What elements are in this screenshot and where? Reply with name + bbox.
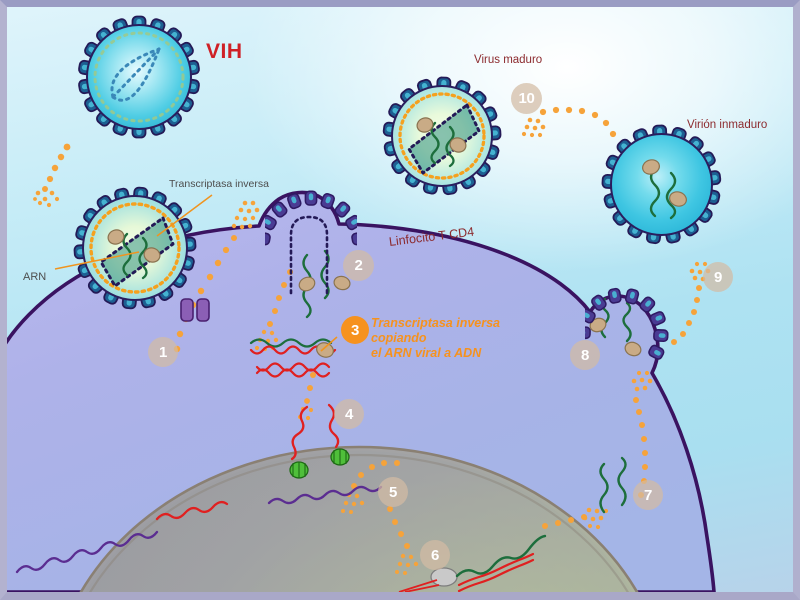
step-marker-8: 8 (570, 340, 600, 370)
figure-frame: VIH Transcriptasa inversa ARN Linfocito … (0, 0, 800, 600)
step-marker-label: 6 (431, 547, 439, 564)
label-transcriptasa-inversa: Transcriptasa inversa (169, 178, 269, 190)
caption-step-3-line1: Transcriptasa inversa copiando (371, 316, 500, 345)
step3-leader (321, 337, 337, 351)
step-marker-3: 3 (341, 316, 369, 344)
step-marker-label: 5 (389, 484, 397, 501)
step-marker-2: 2 (343, 250, 374, 281)
step-marker-7: 7 (633, 480, 663, 510)
step-marker-label: 10 (518, 90, 534, 107)
arn-leader (55, 252, 139, 269)
caption-step-3-line2: el ARN viral a ADN (371, 346, 481, 360)
step-marker-label: 7 (644, 487, 652, 504)
label-virion-inmaduro: Virión inmaduro (687, 119, 767, 131)
step-marker-label: 2 (354, 257, 362, 274)
step-marker-label: 4 (345, 406, 353, 423)
step-marker-10: 10 (511, 83, 542, 114)
label-virus-maduro: Virus maduro (474, 54, 542, 66)
step-marker-label: 1 (159, 344, 167, 361)
step-marker-6: 6 (420, 540, 450, 570)
label-arn: ARN (23, 271, 46, 283)
step-marker-1: 1 (148, 337, 178, 367)
step-marker-4: 4 (334, 399, 364, 429)
label-vih: VIH (206, 40, 243, 64)
caption-step-3: Transcriptasa inversa copiando el ARN vi… (371, 316, 551, 361)
step-marker-label: 9 (714, 269, 722, 286)
transcriptasa-inversa-leader (157, 195, 212, 236)
step-marker-label: 3 (351, 322, 359, 339)
step-marker-5: 5 (378, 477, 408, 507)
step-marker-label: 8 (581, 347, 589, 364)
diagram-stage: VIH Transcriptasa inversa ARN Linfocito … (7, 7, 793, 592)
step-marker-9: 9 (703, 262, 733, 292)
